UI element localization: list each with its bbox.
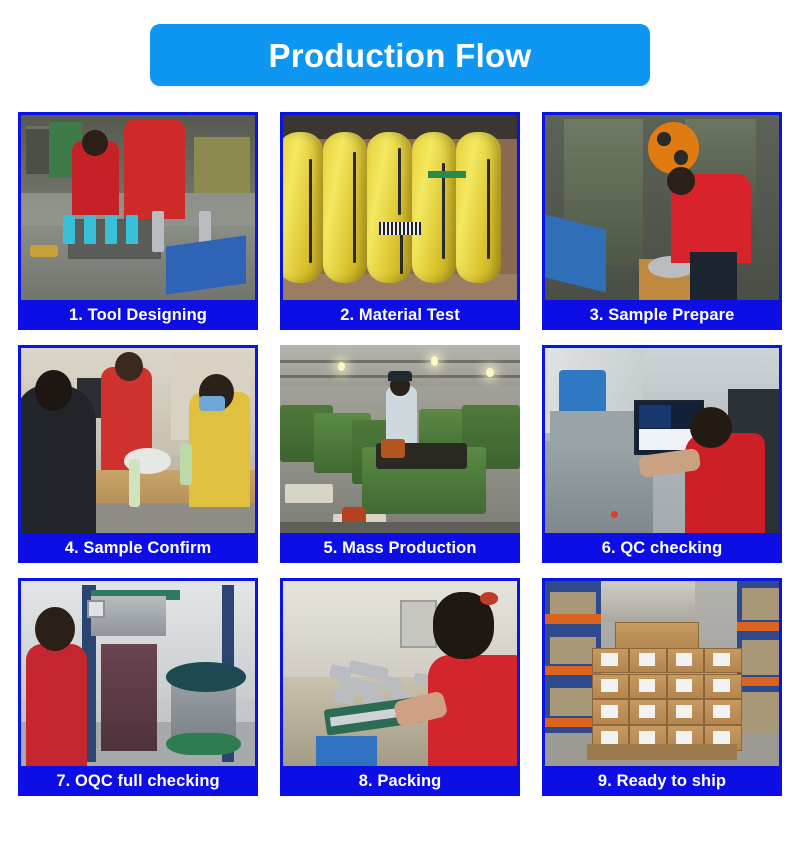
photo-packing <box>283 581 517 766</box>
step-caption-7: 7. OQC full checking <box>18 766 258 796</box>
photo-ready-to-ship <box>545 581 779 766</box>
production-flow-page: Production Flow <box>0 0 800 850</box>
step-photo-6 <box>542 345 782 533</box>
header-area: Production Flow <box>0 0 800 110</box>
step-caption-8: 8. Packing <box>280 766 520 796</box>
step-photo-7 <box>18 578 258 766</box>
step-caption-9: 9. Ready to ship <box>542 766 782 796</box>
step-card-1[interactable]: 1. Tool Designing <box>18 112 258 330</box>
photo-sample-confirm <box>21 348 255 533</box>
step-photo-3 <box>542 112 782 300</box>
step-photo-1 <box>18 112 258 300</box>
step-caption-2: 2. Material Test <box>280 300 520 330</box>
step-photo-2 <box>280 112 520 300</box>
photo-qc-checking <box>545 348 779 533</box>
step-card-3[interactable]: 3. Sample Prepare <box>542 112 782 330</box>
step-caption-1: 1. Tool Designing <box>18 300 258 330</box>
step-card-8[interactable]: 8. Packing <box>280 578 520 796</box>
step-photo-8 <box>280 578 520 766</box>
step-photo-5 <box>280 345 520 533</box>
photo-tool-designing <box>21 115 255 300</box>
step-caption-3: 3. Sample Prepare <box>542 300 782 330</box>
step-caption-5: 5. Mass Production <box>280 533 520 563</box>
step-photo-4 <box>18 345 258 533</box>
step-photo-9 <box>542 578 782 766</box>
step-card-7[interactable]: 7. OQC full checking <box>18 578 258 796</box>
photo-oqc-full-checking <box>21 581 255 766</box>
step-card-2[interactable]: 2. Material Test <box>280 112 520 330</box>
photo-sample-prepare <box>545 115 779 300</box>
step-card-9[interactable]: 9. Ready to ship <box>542 578 782 796</box>
step-caption-4: 4. Sample Confirm <box>18 533 258 563</box>
page-title: Production Flow <box>269 39 532 72</box>
photo-mass-production <box>280 345 520 533</box>
step-caption-6: 6. QC checking <box>542 533 782 563</box>
photo-material-test <box>283 115 517 300</box>
header-banner: Production Flow <box>150 24 650 86</box>
step-card-5[interactable]: 5. Mass Production <box>280 345 520 563</box>
step-card-6[interactable]: 6. QC checking <box>542 345 782 563</box>
process-steps-grid: 1. Tool Designing <box>18 112 782 812</box>
step-card-4[interactable]: 4. Sample Confirm <box>18 345 258 563</box>
